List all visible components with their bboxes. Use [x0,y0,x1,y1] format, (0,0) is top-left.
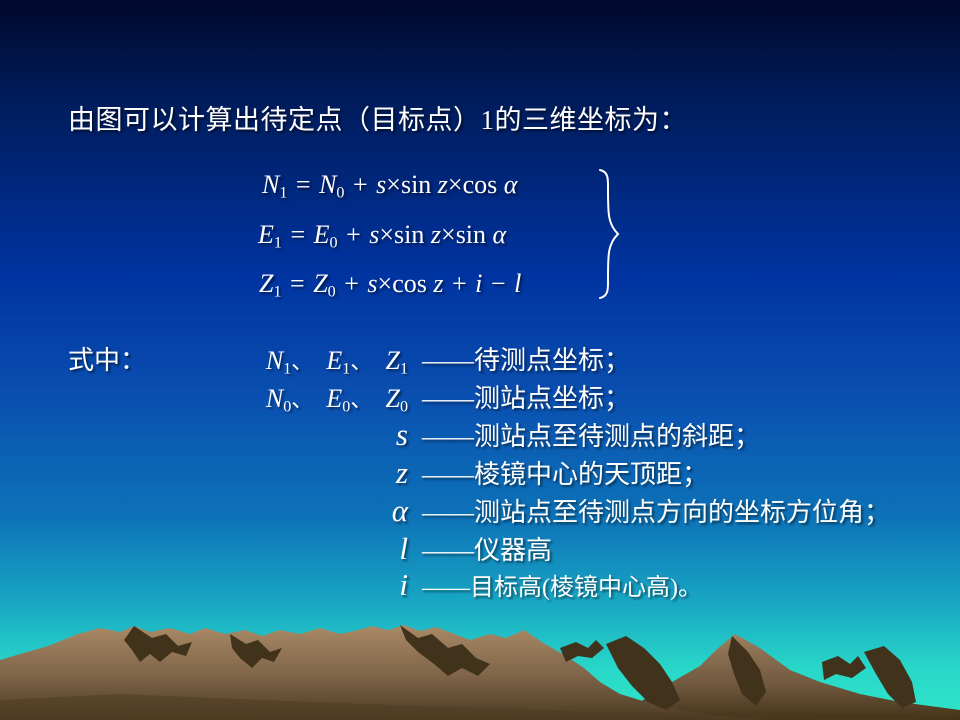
times-sign: × [379,220,394,249]
legend-row-4: z ——棱镜中心的天顶距； [68,454,890,492]
zenith-angle-symbol: z [431,220,441,249]
legend-row-2: N0、 E0、 Z0 ——测站点坐标； [68,378,890,416]
legend-desc-z: ——棱镜中心的天顶距； [416,454,708,491]
slope-distance-symbol: s [376,170,386,199]
sin-function: sin [394,220,424,249]
equals-sign: = [294,170,313,199]
legend-desc-s: ——测站点至待测点的斜距； [416,416,760,453]
legend-heading: 式中： [68,340,158,377]
equals-sign: = [288,269,307,298]
legend-symbol-z: z [158,455,416,491]
sin-function: sin [456,220,486,249]
equation-2-rhs-base: E0 [314,220,338,249]
equation-1-rhs-base: N0 [319,170,344,199]
page-title: 由图可以计算出待定点（目标点）1的三维坐标为： [68,107,687,134]
equation-2-lhs: E1 [258,220,282,249]
minus-sign: − [489,269,508,298]
legend-symbol-s: s [158,417,416,453]
alpha-symbol: α [493,220,507,249]
equation-1: N1 = N0 + s×sin z×cos α [262,170,517,203]
legend-desc-l: ——仪器高 [416,530,552,567]
curly-brace-icon [596,168,626,300]
sin-function: sin [401,170,431,199]
equation-3: Z1 = Z0 + s×cos z + i − l [259,269,521,302]
legend-desc-target-coords: ——待测点坐标； [416,340,630,377]
equation-2: E1 = E0 + s×sin z×sin α [258,220,506,253]
cos-function: cos [463,170,498,199]
slide-canvas: 由图可以计算出待定点（目标点）1的三维坐标为： N1 = N0 + s×sin … [0,0,960,720]
legend-block: 式中： N1、 E1、 Z1 ——待测点坐标； N0、 E0、 Z0 ——测站点… [68,340,890,604]
plus-sign: + [342,269,361,298]
legend-desc-alpha: ——测站点至待测点方向的坐标方位角； [416,492,890,529]
equation-3-rhs-base: Z0 [313,269,336,298]
legend-symbol-l: l [158,531,416,567]
legend-row-5: α ——测站点至待测点方向的坐标方位角； [68,492,890,530]
times-sign: × [448,170,463,199]
plus-sign: + [344,220,363,249]
mountain-silhouette-decoration [0,590,960,720]
legend-symbol-station-coords: N0、 E0、 Z0 [158,382,416,417]
zenith-angle-symbol: z [438,170,448,199]
zenith-angle-symbol: z [433,269,443,298]
plus-sign: + [351,170,370,199]
legend-symbol-alpha: α [158,493,416,529]
equals-sign: = [288,220,307,249]
alpha-symbol: α [504,170,518,199]
legend-row-3: s ——测站点至待测点的斜距； [68,416,890,454]
equation-1-lhs: N1 [262,170,287,199]
legend-row-6: l ——仪器高 [68,530,890,567]
times-sign: × [441,220,456,249]
legend-symbol-target-coords: N1、 E1、 Z1 [158,344,416,379]
slope-distance-symbol: s [369,220,379,249]
plus-sign: + [450,269,469,298]
instrument-height-symbol: l [514,269,521,298]
target-height-symbol: i [475,269,482,298]
times-sign: × [386,170,401,199]
times-sign: × [378,269,393,298]
slope-distance-symbol: s [367,269,377,298]
legend-desc-station-coords: ——测站点坐标； [416,378,630,415]
cos-function: cos [392,269,427,298]
equation-3-lhs: Z1 [259,269,282,298]
legend-row-1: 式中： N1、 E1、 Z1 ——待测点坐标； [68,340,890,378]
